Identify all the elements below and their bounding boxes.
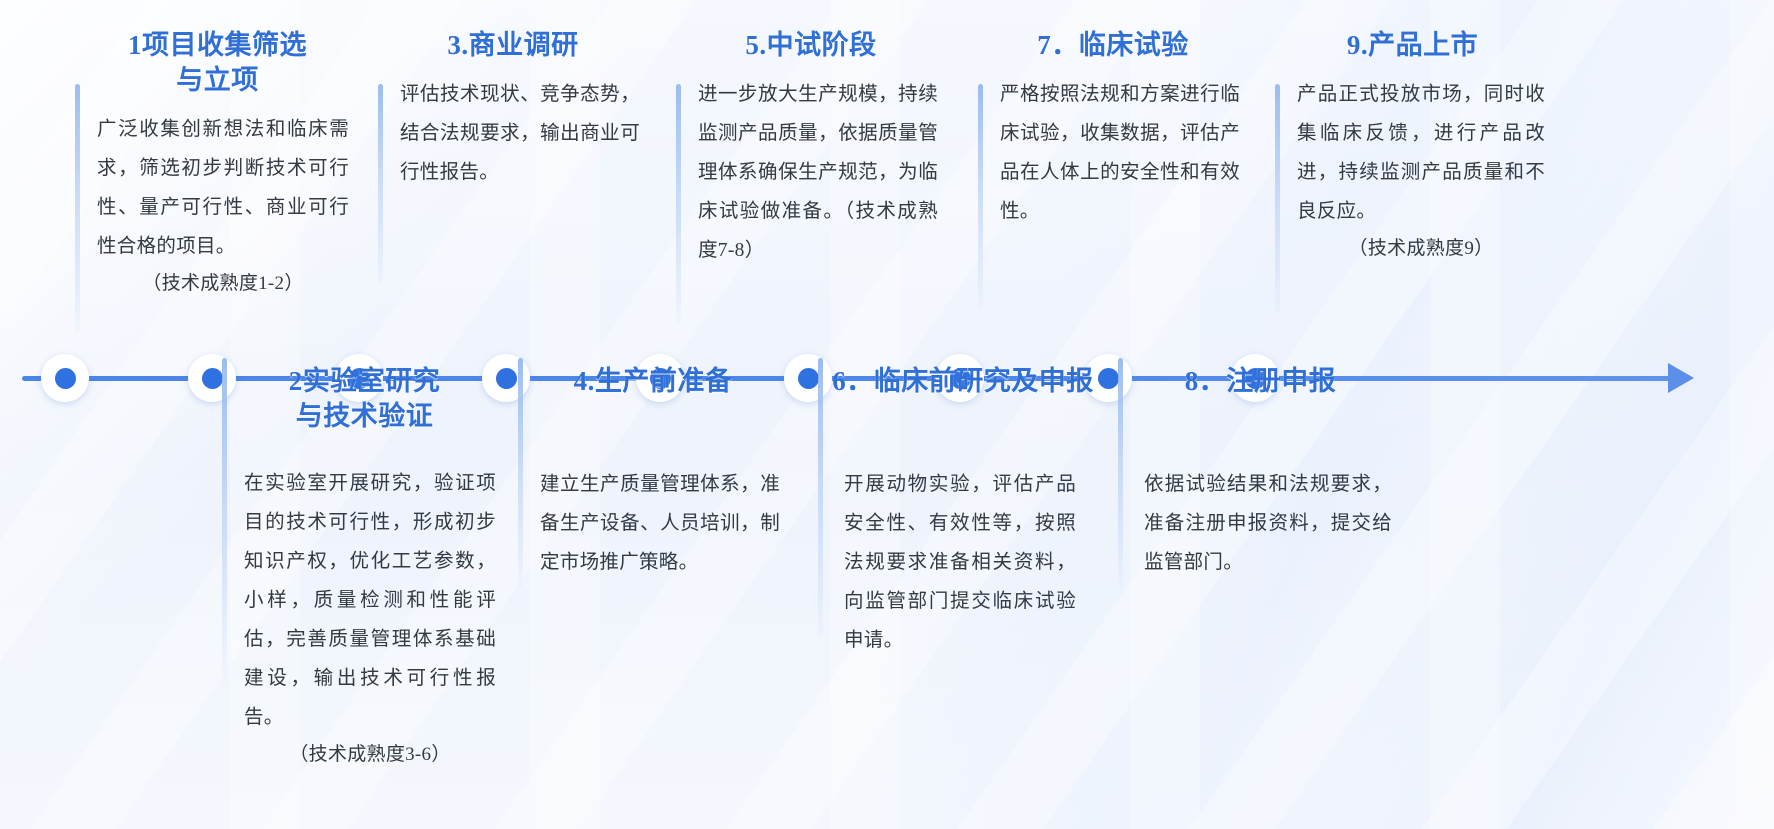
step-4-body: 建立生产质量管理体系，准备生产设备、人员培训，制定市场推广策略。 (540, 465, 780, 582)
step-card-3[interactable]: 3.商业调研 评估技术现状、竞争态势，结合法规要求，输出商业可行性报告。 (378, 28, 648, 192)
timeline-node-1[interactable] (41, 354, 89, 402)
step-6-title: 6．临床前研究及申报 (818, 364, 1108, 399)
step-1-note: （技术成熟度1-2） (97, 266, 349, 302)
step-card-6[interactable]: 6．临床前研究及申报 开展动物实验，评估产品安全性、有效性等，按照法规要求准备相… (818, 358, 1108, 660)
step-4-title: 4.生产前准备 (518, 364, 788, 399)
step-card-5[interactable]: 5.中试阶段 进一步放大生产规模，持续监测产品质量，依据质量管理体系确保生产规范… (676, 28, 946, 270)
step-9-note: （技术成熟度9） (1297, 231, 1545, 267)
step-6-accent-rule (818, 358, 823, 638)
step-7-title: 7．临床试验 (978, 28, 1248, 63)
step-card-1[interactable]: 1项目收集筛选 与立项 广泛收集创新想法和临床需求，筛选初步判断技术可行性、量产… (75, 28, 360, 302)
step-5-accent-rule (676, 84, 681, 324)
step-9-title: 9.产品上市 (1275, 28, 1550, 63)
step-1-body: 广泛收集创新想法和临床需求，筛选初步判断技术可行性、量产可行性、商业可行性合格的… (97, 110, 349, 266)
step-2-title: 2实验室研究 与技术验证 (222, 364, 507, 434)
step-card-9[interactable]: 9.产品上市 产品正式投放市场，同时收集临床反馈，进行产品改进，持续监测产品质量… (1275, 28, 1550, 267)
step-4-accent-rule (518, 358, 523, 588)
step-card-4[interactable]: 4.生产前准备 建立生产质量管理体系，准备生产设备、人员培训，制定市场推广策略。 (518, 358, 788, 582)
step-1-title: 1项目收集筛选 与立项 (75, 28, 360, 98)
step-7-accent-rule (978, 84, 983, 309)
step-2-note: （技术成熟度3-6） (244, 737, 496, 773)
step-8-accent-rule (1118, 358, 1123, 588)
step-8-title: 8．注册申报 (1118, 364, 1403, 399)
step-1-accent-rule (75, 84, 80, 334)
step-3-title: 3.商业调研 (378, 28, 648, 63)
step-9-accent-rule (1275, 84, 1280, 314)
timeline-diagram: 1项目收集筛选 与立项 广泛收集创新想法和临床需求，筛选初步判断技术可行性、量产… (0, 0, 1774, 829)
step-8-body: 依据试验结果和法规要求，准备注册申报资料，提交给监管部门。 (1144, 465, 1392, 582)
step-5-title: 5.中试阶段 (676, 28, 946, 63)
arrow-right-icon (1668, 363, 1694, 393)
step-card-8[interactable]: 8．注册申报 依据试验结果和法规要求，准备注册申报资料，提交给监管部门。 (1118, 358, 1403, 582)
step-3-accent-rule (378, 84, 383, 284)
step-2-body: 在实验室开展研究，验证项目的技术可行性，形成初步知识产权，优化工艺参数，小样，质… (244, 464, 496, 737)
step-2-accent-rule (222, 358, 227, 678)
step-3-body: 评估技术现状、竞争态势，结合法规要求，输出商业可行性报告。 (400, 75, 640, 192)
step-5-body: 进一步放大生产规模，持续监测产品质量，依据质量管理体系确保生产规范，为临床试验做… (698, 75, 938, 270)
step-card-7[interactable]: 7．临床试验 严格按照法规和方案进行临床试验，收集数据，评估产品在人体上的安全性… (978, 28, 1248, 231)
step-7-body: 严格按照法规和方案进行临床试验，收集数据，评估产品在人体上的安全性和有效性。 (1000, 75, 1240, 231)
step-6-body: 开展动物实验，评估产品安全性、有效性等，按照法规要求准备相关资料，向监管部门提交… (844, 465, 1076, 660)
step-9-body: 产品正式投放市场，同时收集临床反馈，进行产品改进，持续监测产品质量和不良反应。 (1297, 75, 1545, 231)
step-card-2[interactable]: 2实验室研究 与技术验证 在实验室开展研究，验证项目的技术可行性，形成初步知识产… (222, 358, 507, 773)
